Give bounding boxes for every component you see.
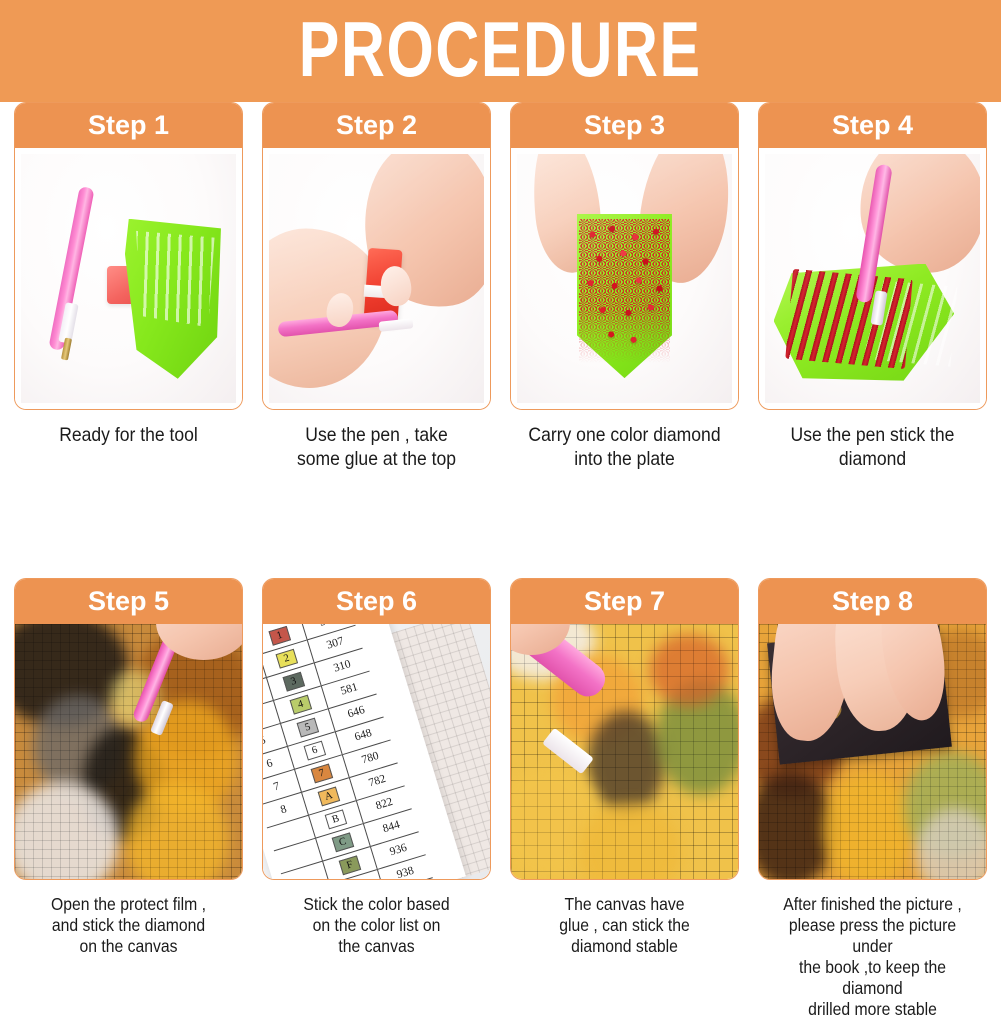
step-label-7: Step 7: [584, 588, 665, 615]
step-card-2[interactable]: Step 2: [262, 102, 491, 410]
step-image-7: [511, 624, 738, 879]
step-body-8: [759, 624, 986, 879]
chart-symbol-chip: 1: [269, 626, 292, 646]
step-cell-3: Step 3 Carry one color diamond into the …: [510, 102, 739, 472]
step-header-3: Step 3: [511, 103, 738, 148]
step-header-4: Step 4: [759, 103, 986, 148]
steps-row-2: Step 5 Op: [0, 578, 1001, 1020]
step-image-3: [517, 154, 732, 403]
step-image-5: [15, 624, 242, 879]
step-body-3: [511, 148, 738, 409]
step-caption-7: The canvas have glue , can stick the dia…: [521, 894, 727, 957]
chart-symbol-chip: 2: [276, 649, 299, 669]
step-header-6: Step 6: [263, 579, 490, 624]
step-label-3: Step 3: [584, 112, 665, 139]
step-label-6: Step 6: [336, 588, 417, 615]
step-cell-7: Step 7 The canvas ha: [510, 578, 739, 1020]
step-cell-1: Step 1 Ready for the tool: [14, 102, 243, 472]
page-banner: PROCEDURE: [0, 0, 1001, 102]
chart-symbol-chip: F: [339, 855, 362, 875]
chart-symbol-chip: 5: [297, 717, 320, 737]
step-body-5: [15, 624, 242, 879]
chart-symbol-chip: A: [318, 786, 341, 806]
step-cell-6: Step 6 12345678 1234567ABCF 300307310581…: [262, 578, 491, 1020]
step-label-2: Step 2: [336, 112, 417, 139]
step-header-7: Step 7: [511, 579, 738, 624]
step-image-4: [765, 154, 980, 403]
chart-symbol-chip: 7: [311, 763, 334, 783]
steps-row-1: Step 1 Ready for the tool Step 2: [0, 102, 1001, 472]
step-caption-6: Stick the color based on the color list …: [273, 894, 479, 957]
step-body-1: [15, 148, 242, 409]
step-header-1: Step 1: [15, 103, 242, 148]
step-body-7: [511, 624, 738, 879]
step-label-1: Step 1: [88, 112, 169, 139]
step-caption-4: Use the pen stick the diamond: [769, 424, 975, 472]
step-header-2: Step 2: [263, 103, 490, 148]
step-image-2: [269, 154, 484, 403]
chart-symbol-chip: 3: [283, 672, 306, 692]
step-caption-5: Open the protect film , and stick the di…: [25, 894, 231, 957]
step-body-2: [263, 148, 490, 409]
step-card-4[interactable]: Step 4: [758, 102, 987, 410]
chart-symbol-chip: 6: [304, 740, 327, 760]
step-card-1[interactable]: Step 1: [14, 102, 243, 410]
step-cell-2: Step 2 Use the pen , take some glue at t…: [262, 102, 491, 472]
step-cell-4: Step 4 Use the pen stick the diamond: [758, 102, 987, 472]
step-card-8[interactable]: Step 8: [758, 578, 987, 880]
step-caption-1: Ready for the tool: [25, 424, 231, 448]
step-card-3[interactable]: Step 3: [510, 102, 739, 410]
step-label-5: Step 5: [88, 588, 169, 615]
step-label-8: Step 8: [832, 588, 913, 615]
step-cell-8: Step 8 Af: [758, 578, 987, 1020]
step-caption-3: Carry one color diamond into the plate: [521, 424, 727, 472]
diamond-rows-icon: [785, 268, 913, 368]
page-title: PROCEDURE: [299, 10, 702, 92]
step-image-1: [21, 154, 236, 403]
step-card-6[interactable]: Step 6 12345678 1234567ABCF 300307310581…: [262, 578, 491, 880]
step-image-8: [759, 624, 986, 879]
step-card-5[interactable]: Step 5: [14, 578, 243, 880]
step-image-6: 12345678 1234567ABCF 3003073105816466487…: [263, 624, 490, 879]
step-body-4: [759, 148, 986, 409]
step-header-8: Step 8: [759, 579, 986, 624]
diamond-drills-icon: [582, 221, 668, 355]
chart-symbol-chip: 4: [290, 694, 313, 714]
step-cell-5: Step 5 Op: [14, 578, 243, 1020]
step-header-5: Step 5: [15, 579, 242, 624]
step-body-6: 12345678 1234567ABCF 3003073105816466487…: [263, 624, 490, 879]
chart-symbol-chip: B: [325, 809, 348, 829]
step-card-7[interactable]: Step 7: [510, 578, 739, 880]
step-label-4: Step 4: [832, 112, 913, 139]
step-caption-2: Use the pen , take some glue at the top: [273, 424, 479, 472]
chart-symbol-chip: C: [332, 832, 355, 852]
step-caption-8: After finished the picture , please pres…: [769, 894, 975, 1020]
